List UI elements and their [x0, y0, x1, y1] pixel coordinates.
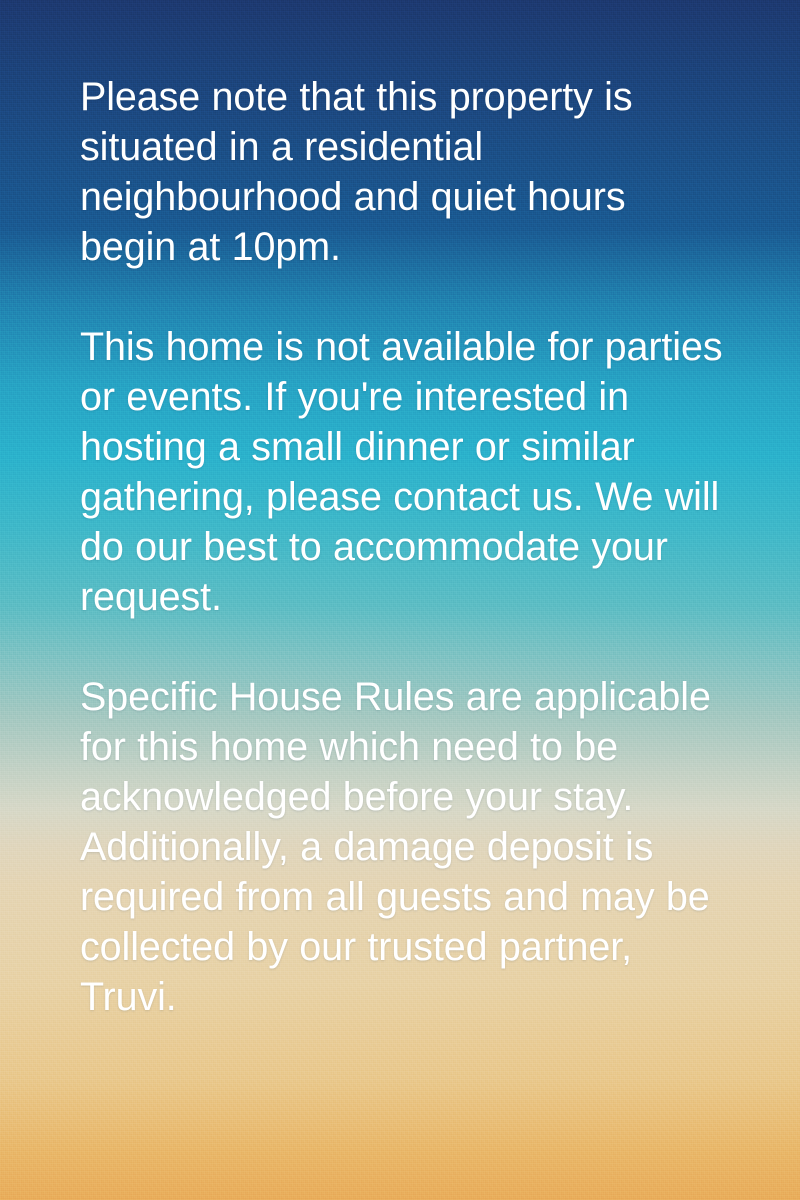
house-rules-notice-card: Please note that this property is situat…: [0, 0, 800, 1200]
notice-paragraph-quiet-hours: Please note that this property is situat…: [80, 72, 730, 272]
notice-paragraph-no-parties: This home is not available for parties o…: [80, 322, 730, 622]
notice-text-block: Please note that this property is situat…: [80, 72, 730, 1022]
notice-paragraph-house-rules-deposit: Specific House Rules are applicable for …: [80, 672, 730, 1022]
